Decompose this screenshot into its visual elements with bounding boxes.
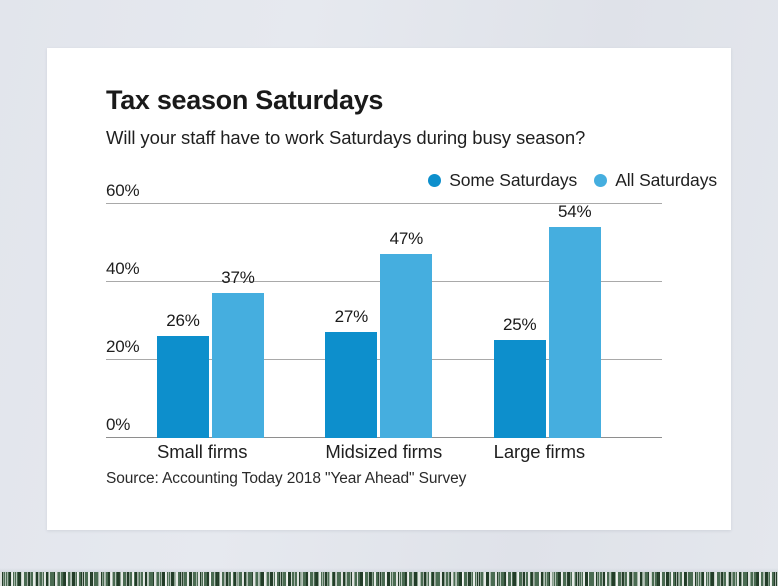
source-note: Source: Accounting Today 2018 "Year Ahea… [106,470,466,488]
bar-value-label: 26% [166,311,199,331]
bar-group-small-firms: 26% 37% [157,203,325,438]
bar-wrapper: 54% [549,203,601,438]
chart-subtitle: Will your staff have to work Saturdays d… [106,127,585,149]
bar-value-label: 25% [503,315,536,335]
bar-small-firms-all-saturdays[interactable]: 37% [212,293,264,438]
bar-value-label: 37% [221,268,254,288]
y-axis-tick-label: 0% [106,415,130,437]
bottom-noise-strip [0,572,778,586]
x-axis-label-midsized-firms: Midsized firms [325,441,493,463]
bar-value-label: 47% [390,229,423,249]
legend-item-some-saturdays[interactable]: Some Saturdays [428,170,577,191]
legend-item-all-saturdays[interactable]: All Saturdays [594,170,717,191]
bar-midsized-firms-all-saturdays[interactable]: 47% [380,254,432,438]
bar-small-firms-some-saturdays[interactable]: 26% [157,336,209,438]
bar-wrapper: 47% [380,203,432,438]
bar-wrapper: 27% [325,203,377,438]
legend-label: Some Saturdays [449,170,577,191]
y-axis-tick-label: 60% [106,181,139,203]
bar-wrapper: 26% [157,203,209,438]
bar-large-firms-some-saturdays[interactable]: 25% [494,340,546,438]
legend-dot-icon [428,174,441,187]
bar-large-firms-all-saturdays[interactable]: 54% [549,227,601,439]
plot-area: 60% 40% 20% 0% 26% 37% [106,203,662,438]
y-axis-tick-label: 20% [106,337,139,359]
bar-value-label: 27% [335,307,368,327]
bar-midsized-firms-some-saturdays[interactable]: 27% [325,332,377,438]
chart-card: Tax season Saturdays Will your staff hav… [47,48,731,530]
bar-wrapper: 37% [212,203,264,438]
x-axis-labels: Small firms Midsized firms Large firms [157,441,662,463]
bar-group-large-firms: 25% 54% [494,203,662,438]
bar-group-midsized-firms: 27% 47% [325,203,493,438]
chart-legend: Some Saturdays All Saturdays [428,170,717,191]
x-axis-label-small-firms: Small firms [157,441,325,463]
bar-wrapper: 25% [494,203,546,438]
y-axis-tick-label: 40% [106,259,139,281]
page-title: Tax season Saturdays [106,85,383,116]
x-axis-label-large-firms: Large firms [494,441,662,463]
legend-label: All Saturdays [615,170,717,191]
bar-groups: 26% 37% 27% 47% [157,203,662,438]
bar-value-label: 54% [558,202,591,222]
legend-dot-icon [594,174,607,187]
